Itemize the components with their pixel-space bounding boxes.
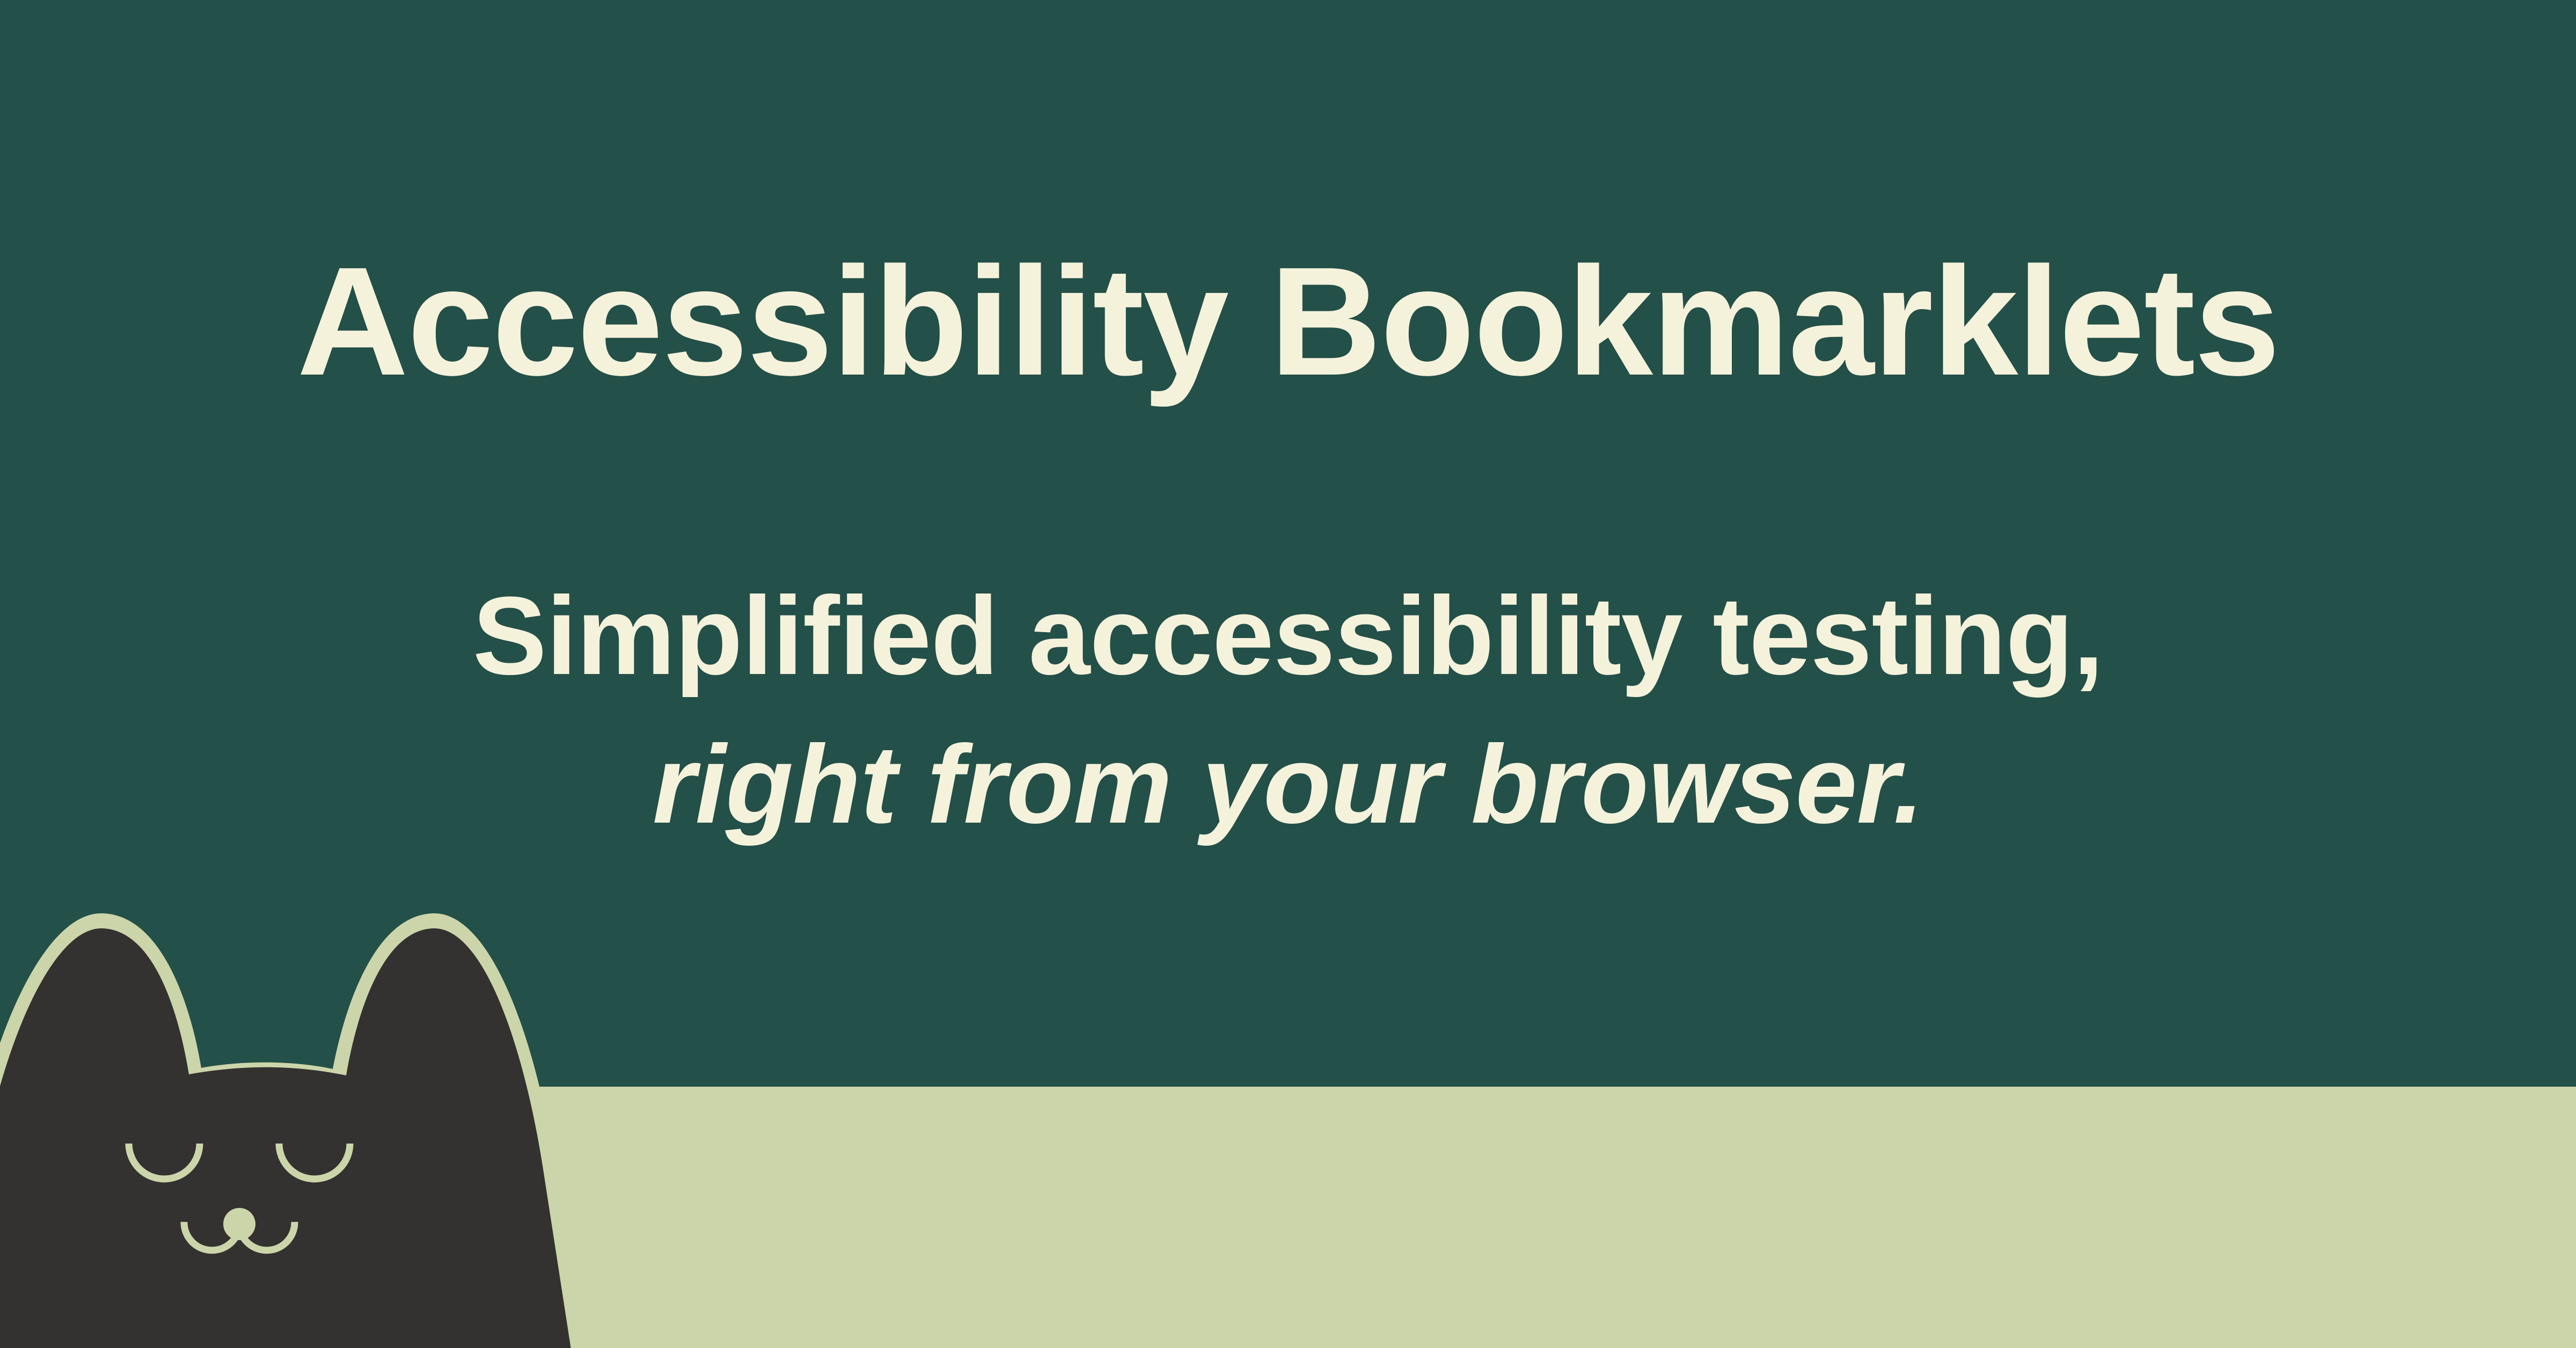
subtitle-line-2: right from your browser. xyxy=(0,710,2576,859)
subtitle-line-1: Simplified accessibility testing, xyxy=(0,561,2576,710)
page-title: Accessibility Bookmarklets xyxy=(0,244,2576,399)
footer-bar: Powered by CAAT.report xyxy=(0,1087,2576,1348)
hero-subtitle: Simplified accessibility testing, right … xyxy=(0,561,2576,859)
banner-graphic: Accessibility Bookmarklets Simplified ac… xyxy=(0,0,2576,1348)
